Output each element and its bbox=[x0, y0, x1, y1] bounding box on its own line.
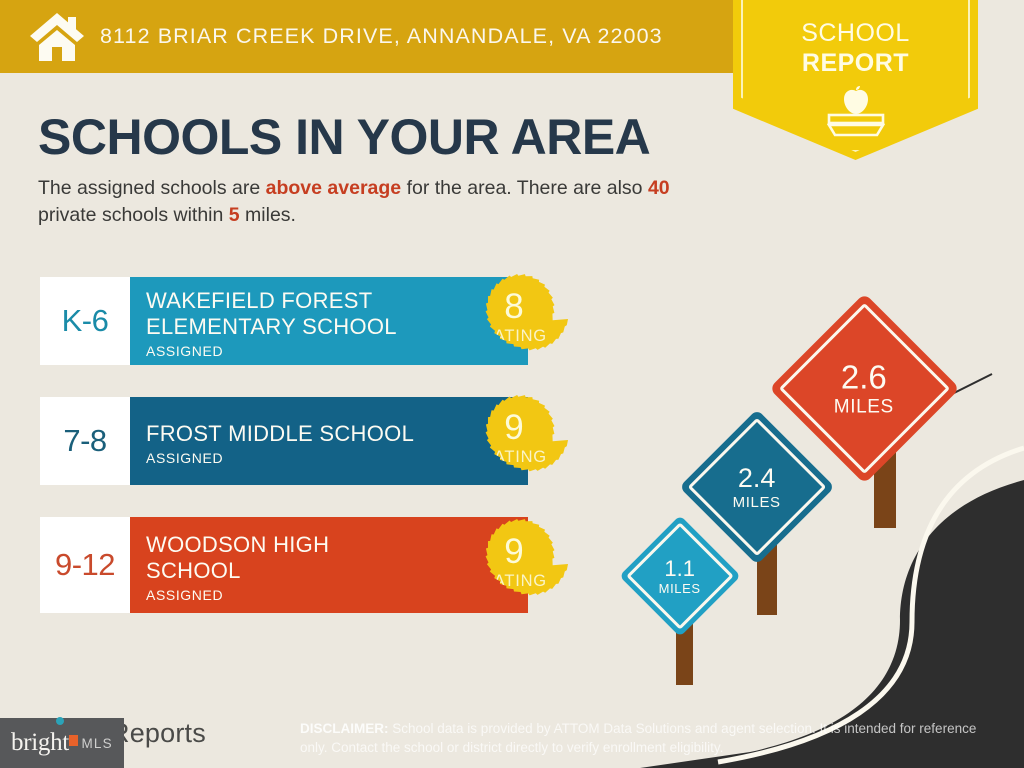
page-subtitle: The assigned schools are above average f… bbox=[38, 175, 718, 229]
school-name-3-line2: SCHOOL bbox=[146, 558, 241, 583]
school-name-2-line1: FROST MIDDLE SCHOOL bbox=[146, 421, 414, 446]
subtitle-part-4: miles. bbox=[240, 204, 296, 226]
sign-2-label: 2.4 MILES bbox=[733, 464, 781, 509]
infographic-canvas: 8112 BRIAR CREEK DRIVE, ANNANDALE, VA 22… bbox=[0, 0, 1024, 768]
header-bar: 8112 BRIAR CREEK DRIVE, ANNANDALE, VA 22… bbox=[0, 0, 733, 73]
school-name-1-line2: ELEMENTARY SCHOOL bbox=[146, 314, 397, 339]
badge-text-block: SCHOOL REPORT bbox=[733, 18, 978, 78]
grade-range-3: 9-12 bbox=[55, 547, 115, 583]
sign-1-label: 1.1 MILES bbox=[659, 557, 701, 594]
sign-1-value: 1.1 bbox=[659, 557, 701, 579]
disclaimer-text: School data is provided by ATTOM Data So… bbox=[300, 721, 976, 755]
school-name-3: WOODSON HIGH SCHOOL bbox=[146, 532, 514, 584]
school-report-badge: SCHOOL REPORT bbox=[733, 0, 978, 160]
school-status-1: ASSIGNED bbox=[146, 343, 514, 359]
school-status-3: ASSIGNED bbox=[146, 587, 514, 603]
grade-range-1: K-6 bbox=[62, 303, 109, 339]
grade-range-2: 7-8 bbox=[63, 423, 106, 459]
home-icon bbox=[28, 11, 86, 63]
disclaimer: DISCLAIMER: School data is provided by A… bbox=[300, 719, 990, 757]
school-bar-3: WOODSON HIGH SCHOOL ASSIGNED bbox=[130, 517, 528, 613]
reports-wordmark: Reports bbox=[110, 718, 206, 749]
school-row-middle[interactable]: 7-8 FROST MIDDLE SCHOOL ASSIGNED bbox=[40, 397, 528, 485]
subtitle-part-2: for the area. There are also bbox=[401, 177, 648, 199]
sign-2-unit: MILES bbox=[733, 494, 781, 509]
bright-flag-icon bbox=[69, 735, 78, 746]
school-name-1: WAKEFIELD FOREST ELEMENTARY SCHOOL bbox=[146, 288, 514, 340]
school-row-elementary[interactable]: K-6 WAKEFIELD FOREST ELEMENTARY SCHOOL A… bbox=[40, 277, 528, 365]
sign-3-value: 2.6 bbox=[834, 361, 894, 394]
grade-range-box-2: 7-8 bbox=[40, 397, 130, 485]
school-name-2: FROST MIDDLE SCHOOL bbox=[146, 421, 514, 447]
disclaimer-label: DISCLAIMER: bbox=[300, 721, 389, 736]
sign-3-unit: MILES bbox=[834, 398, 894, 417]
school-name-1-line1: WAKEFIELD FOREST bbox=[146, 288, 372, 313]
badge-line-2: REPORT bbox=[733, 48, 978, 78]
school-bar-1: WAKEFIELD FOREST ELEMENTARY SCHOOL ASSIG… bbox=[130, 277, 528, 365]
property-address: 8112 BRIAR CREEK DRIVE, ANNANDALE, VA 22… bbox=[100, 24, 663, 49]
sign-2-value: 2.4 bbox=[733, 464, 781, 491]
subtitle-highlight-radius: 5 bbox=[229, 204, 240, 226]
subtitle-part-1: The assigned schools are bbox=[38, 177, 266, 199]
subtitle-highlight-above-average: above average bbox=[266, 177, 402, 199]
bright-mls-logo[interactable]: bright™ MLS bbox=[0, 718, 124, 768]
school-row-high[interactable]: 9-12 WOODSON HIGH SCHOOL ASSIGNED bbox=[40, 517, 528, 613]
bright-dot-icon bbox=[56, 717, 64, 725]
book-icon bbox=[827, 113, 885, 137]
sign-1-unit: MILES bbox=[659, 581, 701, 594]
subtitle-part-3: private schools within bbox=[38, 204, 229, 226]
subtitle-highlight-private-count: 40 bbox=[648, 177, 670, 199]
sign-3-label: 2.6 MILES bbox=[834, 361, 894, 417]
badge-line-1: SCHOOL bbox=[733, 18, 978, 48]
grade-range-box-3: 9-12 bbox=[40, 517, 130, 613]
school-bar-2: FROST MIDDLE SCHOOL ASSIGNED bbox=[130, 397, 528, 485]
grade-range-box-1: K-6 bbox=[40, 277, 130, 365]
school-status-2: ASSIGNED bbox=[146, 450, 514, 466]
bright-word-text: bright bbox=[11, 729, 69, 756]
bright-wordmark: bright™ bbox=[11, 729, 76, 757]
school-name-3-line1: WOODSON HIGH bbox=[146, 532, 329, 557]
mls-wordmark: MLS bbox=[81, 736, 112, 751]
page-title: SCHOOLS IN YOUR AREA bbox=[38, 108, 650, 166]
apple-icon bbox=[841, 86, 871, 114]
